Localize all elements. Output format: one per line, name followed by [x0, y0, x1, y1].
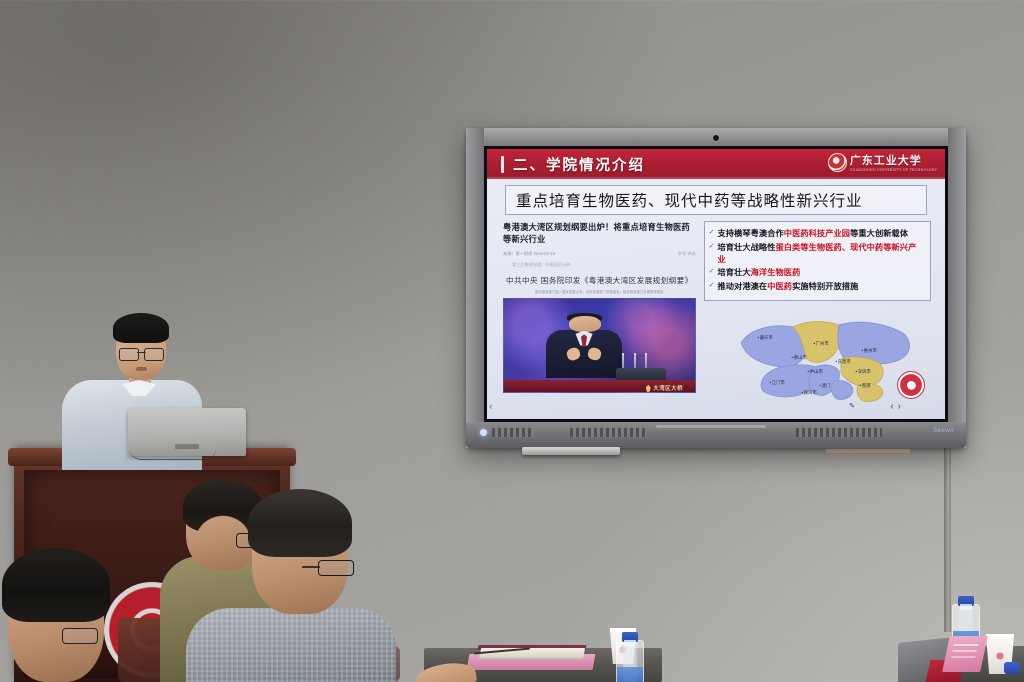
university-subtitle: GUANGDONG UNIVERSITY OF TECHNOLOGY: [850, 168, 937, 172]
wall-seam: [0, 0, 1024, 1]
svg-text:•珠海市: •珠海市: [801, 389, 817, 396]
bottle-label: [617, 667, 643, 682]
speaker-photo: 大湾区大桥: [503, 298, 696, 393]
svg-text:•江门市: •江门市: [769, 379, 785, 386]
tv-top-bezel: [466, 128, 966, 146]
presentation-slide: 二、学院情况介绍 广东工业大学GUANGDONG UNIVERSITY OF T…: [487, 149, 945, 419]
lens-left: [119, 348, 139, 361]
cup-logo-icon: [994, 650, 1006, 662]
photo-speaker-face: [569, 316, 601, 332]
tv-screen[interactable]: 二、学院情况介绍 广东工业大学GUANGDONG UNIVERSITY OF T…: [484, 146, 948, 422]
bullet-text-1: 支持横琴粤澳合作中医药科技产业园等重大创新载体: [717, 228, 908, 240]
pen-tool-icon[interactable]: ✎: [849, 402, 855, 410]
university-seal-icon: [828, 153, 847, 172]
bullet-item-3: ✓ 培育壮大海洋生物医药: [709, 267, 924, 279]
presenter-mouth: [136, 367, 147, 371]
bullet-text-2: 培育壮大战略性蛋白类等生物医药、现代中药等新兴产业: [717, 242, 924, 265]
news-meta-left: 来源：第一财经 2019-02-19: [503, 251, 555, 257]
nav-next-icon[interactable]: ›: [898, 401, 905, 412]
check-mark-icon: ✓: [709, 242, 715, 253]
check-mark-icon: ✓: [709, 281, 715, 292]
check-mark-icon: ✓: [709, 228, 715, 239]
photo-podium: 大湾区大桥: [504, 380, 695, 392]
svg-text:•中山市: •中山市: [807, 368, 823, 375]
audience-person-2-glasses-icon: [318, 560, 354, 576]
tv-bottom-label: [826, 449, 910, 453]
camera-dot-icon: [713, 135, 719, 141]
slide-nav-arrows[interactable]: ‹›: [890, 401, 905, 412]
svg-text:•深圳市: •深圳市: [855, 368, 871, 375]
slide-title: 重点培育生物医药、现代中药等战略性新兴行业: [505, 185, 927, 215]
audience-person-3-glasses-icon: [62, 628, 98, 644]
bottle-neck: [960, 604, 972, 610]
tv-speaker-grille-left: [570, 428, 646, 437]
tv-pen-tray[interactable]: [522, 447, 620, 455]
bottle-neck: [624, 640, 636, 646]
tv-right-bezel: [948, 128, 966, 448]
nav-left-icon[interactable]: ‹: [489, 401, 493, 413]
slide-right-column: ✓ 支持横琴粤澳合作中医药科技产业园等重大创新载体 ✓ 培育壮大战略性蛋白类等生…: [704, 221, 931, 413]
audience-person-2-hair: [248, 489, 352, 557]
bottle-cap-far-right-icon: [1004, 662, 1020, 674]
tv-speaker-grille-right: [796, 428, 882, 437]
news-meta-second: 第三方整理报道：中国医药创新: [503, 262, 696, 268]
university-name: 广东工业大学GUANGDONG UNIVERSITY OF TECHNOLOGY: [850, 152, 937, 172]
eyeglasses-icon: [119, 348, 164, 359]
photo-podium-mark-icon: [646, 385, 651, 392]
conference-room-scene: 二、学院情况介绍 广东工业大学GUANGDONG UNIVERSITY OF T…: [0, 0, 1024, 682]
bullet-text-4: 推动对港澳在中医药实施特别开放措施: [717, 281, 858, 293]
svg-text:•惠州市: •惠州市: [861, 347, 877, 354]
news-headline: 粤港澳大湾区规划纲要出炉！将重点培育生物医药等新兴行业: [503, 221, 696, 245]
interactive-flat-panel-display[interactable]: 二、学院情况介绍 广东工业大学GUANGDONG UNIVERSITY OF T…: [466, 128, 966, 448]
university-logo: 广东工业大学GUANGDONG UNIVERSITY OF TECHNOLOGY: [828, 152, 937, 172]
map-regions: [741, 322, 910, 402]
news-meta-row: 来源：第一财经 2019-02-19 字号 评论: [503, 251, 696, 257]
slide-body: 粤港澳大湾区规划纲要出炉！将重点培育生物医药等新兴行业 来源：第一财经 2019…: [487, 217, 945, 419]
audience-person-3-hair: [2, 548, 110, 622]
bullet-list: ✓ 支持横琴粤澳合作中医药科技产业园等重大创新载体 ✓ 培育壮大战略性蛋白类等生…: [704, 221, 931, 301]
presenter-hair: [113, 313, 169, 343]
lens-right: [144, 348, 164, 361]
tv-bezel-strip: [656, 425, 766, 428]
slide-left-column: 粤港澳大湾区规划纲要出炉！将重点培育生物医药等新兴行业 来源：第一财经 2019…: [503, 221, 696, 413]
bullet-text-3: 培育壮大海洋生物医药: [717, 267, 800, 279]
check-mark-icon: ✓: [709, 267, 715, 278]
svg-text:•东莫市: •东莫市: [835, 358, 851, 365]
bullet-item-2: ✓ 培育壮大战略性蛋白类等生物医药、现代中药等新兴产业: [709, 242, 924, 265]
header-accent-bar: [501, 156, 504, 173]
cup-rim: [983, 634, 1016, 638]
slide-header-title: 二、学院情况介绍: [513, 154, 645, 175]
greater-bay-area-map: •肇庆市 •广州市 •惠州市 •佛山市 •东莫市 •中山市 •深圳市 •江门市 …: [704, 307, 931, 413]
red-circular-seal-icon: [897, 371, 925, 399]
laptop-cable: [130, 449, 216, 460]
bullet-item-1: ✓ 支持横琴粤澳合作中医药科技产业园等重大创新载体: [709, 228, 924, 240]
slide-title-wrap: 重点培育生物医药、现代中药等战略性新兴行业: [487, 179, 945, 217]
svg-text:•肇庆市: •肇庆市: [757, 334, 773, 341]
document-subtitle: 推动香港澳门融入国家发展大局，增进香港澳门同胞福祉，保持香港澳门长期繁荣稳定: [503, 289, 696, 294]
tv-power-indicator[interactable]: [480, 429, 487, 436]
water-bottle-center[interactable]: [616, 640, 644, 682]
tv-brand-mark: Seewo: [933, 428, 954, 434]
nav-prev-icon[interactable]: ‹: [890, 401, 897, 412]
svg-text:•香港: •香港: [859, 382, 871, 389]
slide-header-bar: 二、学院情况介绍 广东工业大学GUANGDONG UNIVERSITY OF T…: [487, 149, 945, 179]
pink-nameplate[interactable]: [942, 636, 988, 672]
tv-left-bezel: [466, 128, 484, 448]
tv-cable-trunking: [944, 446, 951, 632]
audience-person-2-body: [186, 608, 396, 682]
bullet-item-4: ✓ 推动对港澳在中医药实施特别开放措施: [709, 281, 924, 293]
svg-text:•广州市: •广州市: [813, 340, 829, 347]
tv-bottom-bezel: Seewo: [466, 422, 966, 448]
photo-podium-text: 大湾区大桥: [653, 384, 683, 392]
svg-text:•佛山市: •佛山市: [791, 354, 807, 361]
svg-text:•澳门: •澳门: [819, 382, 830, 389]
news-meta-right: 字号 评论: [678, 251, 696, 257]
document-title: 中共中央 国务院印发《粤港澳大湾区发展规划纲要》: [503, 275, 696, 286]
tv-ir-grille: [492, 428, 534, 437]
